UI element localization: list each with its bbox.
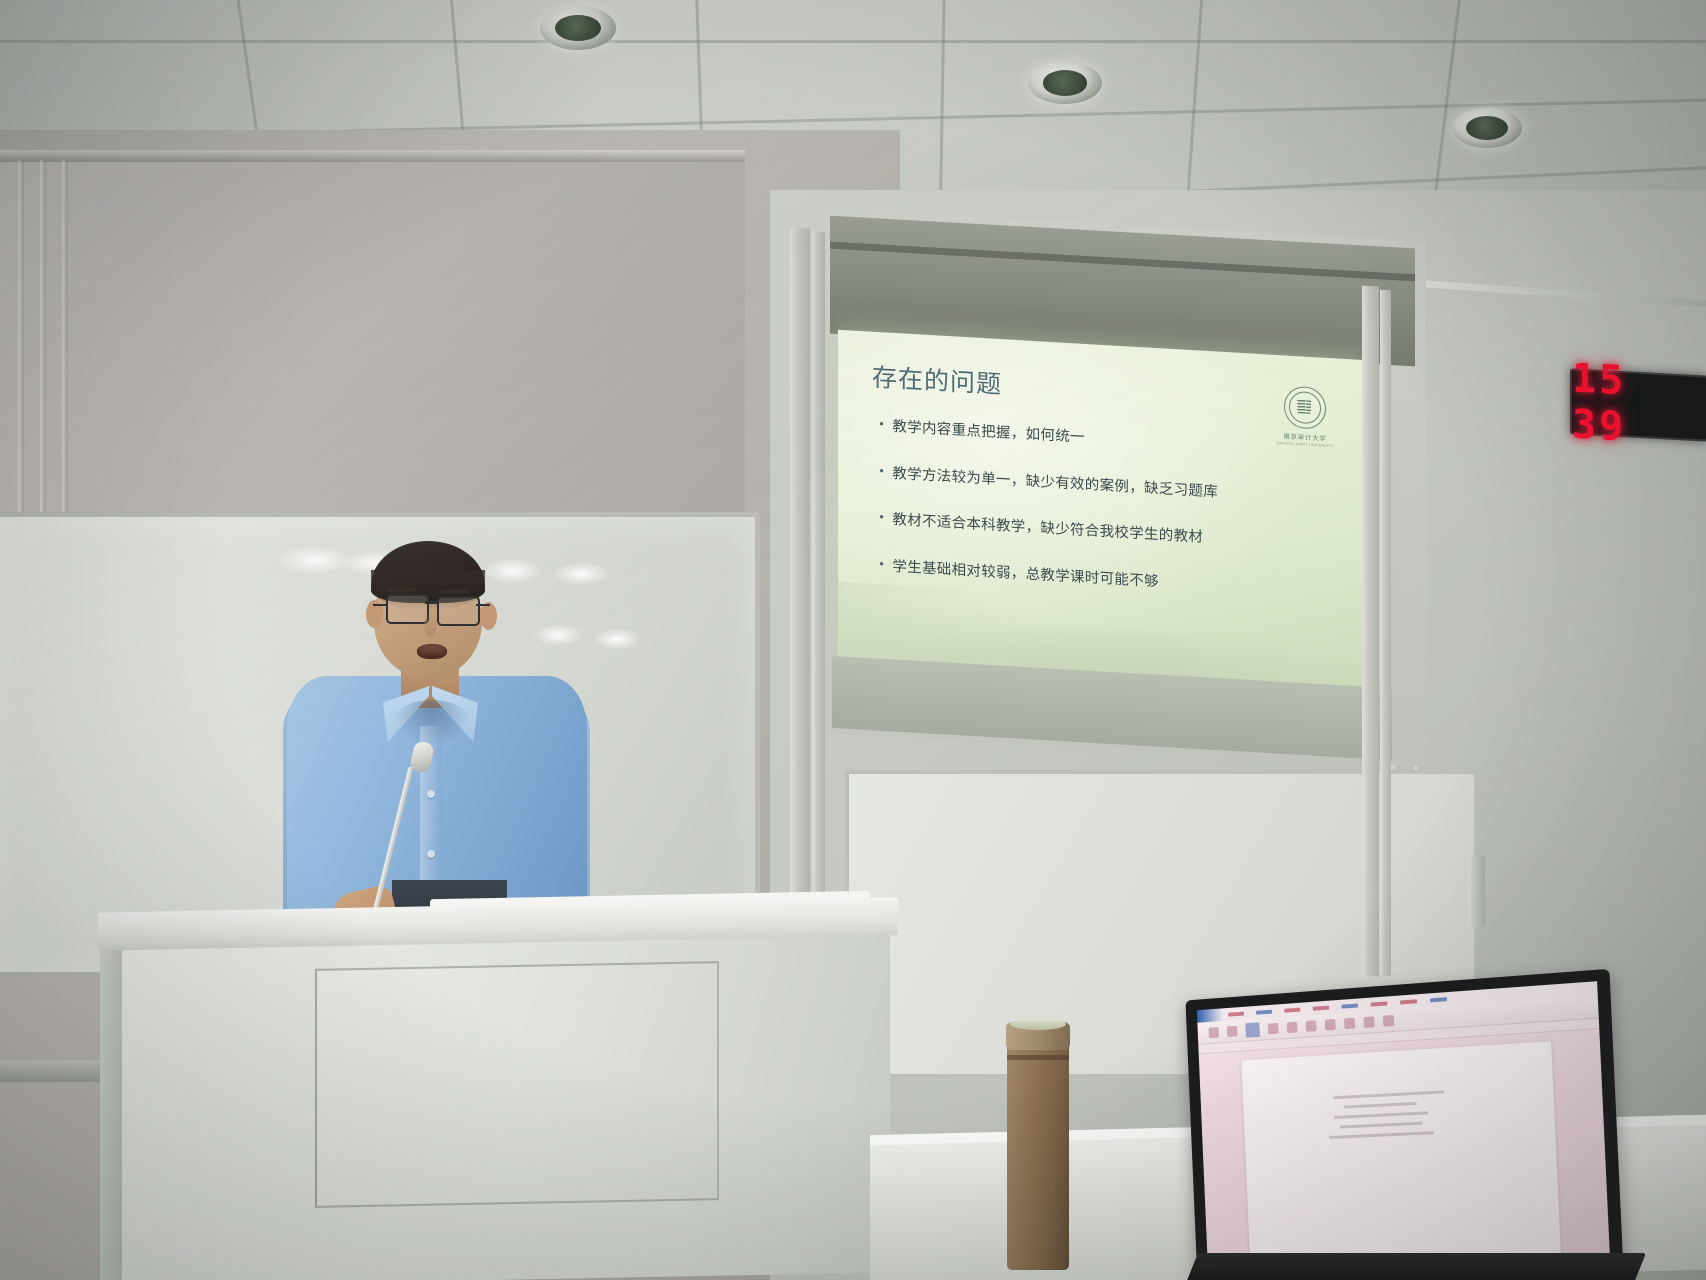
bullet-marker-icon: • bbox=[878, 416, 885, 433]
slide-bullet-item: •教学内容重点把握，如何统一 bbox=[878, 416, 1298, 461]
thermos-bottle bbox=[1007, 1040, 1069, 1270]
eyeglasses-right-lens bbox=[437, 596, 480, 626]
bullet-marker-icon: • bbox=[878, 463, 885, 480]
projector-screen: 存在的问题 •教学内容重点把握，如何统一 •教学方法较为单一，缺少有效的案例，缺… bbox=[838, 330, 1368, 691]
wall-mounted-fixture bbox=[1468, 855, 1485, 927]
presenter-mouth bbox=[417, 644, 447, 659]
laptop-keyboard-base[interactable] bbox=[1186, 1253, 1646, 1280]
laptop-document-page bbox=[1241, 1041, 1561, 1264]
slide-bullet-text: 学生基础相对较弱，总教学课时可能不够 bbox=[892, 559, 1158, 590]
wall-curtain-panel bbox=[0, 150, 745, 528]
ceiling-light-icon bbox=[1028, 62, 1102, 104]
slide-bullet-text: 教学方法较为单一，缺少有效的案例，缺乏习题库 bbox=[892, 465, 1218, 500]
slide-bullet-text: 教材不适合本科教学，缺少符合我校学生的教材 bbox=[892, 512, 1203, 546]
laptop[interactable] bbox=[1180, 985, 1640, 1280]
university-seal-icon bbox=[1284, 385, 1326, 429]
screen-left-post-inner bbox=[812, 232, 825, 968]
laptop-screen[interactable] bbox=[1197, 981, 1610, 1268]
clock-time: 15 39 bbox=[1572, 355, 1706, 454]
digital-clock-icon: 15 39 bbox=[1570, 368, 1706, 441]
university-logo: 南京审计大学 NANJING AUDIT UNIVERSITY bbox=[1274, 385, 1336, 449]
slide-bullet-item: •教材不适合本科教学，缺少符合我校学生的教材 bbox=[878, 509, 1298, 554]
screen-right-post-inner bbox=[1380, 290, 1391, 977]
laptop-lid bbox=[1185, 969, 1623, 1279]
screen-left-post bbox=[790, 227, 810, 968]
podium-front-panel bbox=[315, 961, 719, 1208]
curtain-rail bbox=[0, 150, 745, 162]
eyeglasses-bridge bbox=[425, 601, 437, 604]
slide-bullet-item: •教学方法较为单一，缺少有效的案例，缺乏习题库 bbox=[878, 463, 1298, 508]
screen-right-post bbox=[1362, 286, 1379, 977]
lecture-hall-scene: 存在的问题 •教学内容重点把握，如何统一 •教学方法较为单一，缺少有效的案例，缺… bbox=[0, 0, 1706, 1280]
presenter-nose bbox=[424, 610, 437, 636]
eyeglasses-left-lens bbox=[386, 594, 429, 624]
slide-bullet-text: 教学内容重点把握，如何统一 bbox=[892, 419, 1084, 446]
bullet-marker-icon: • bbox=[878, 509, 885, 526]
slide-title: 存在的问题 bbox=[872, 358, 1002, 401]
bullet-marker-icon: • bbox=[878, 556, 885, 573]
ceiling-light-icon bbox=[1452, 108, 1522, 148]
ceiling-light-icon bbox=[540, 6, 616, 50]
